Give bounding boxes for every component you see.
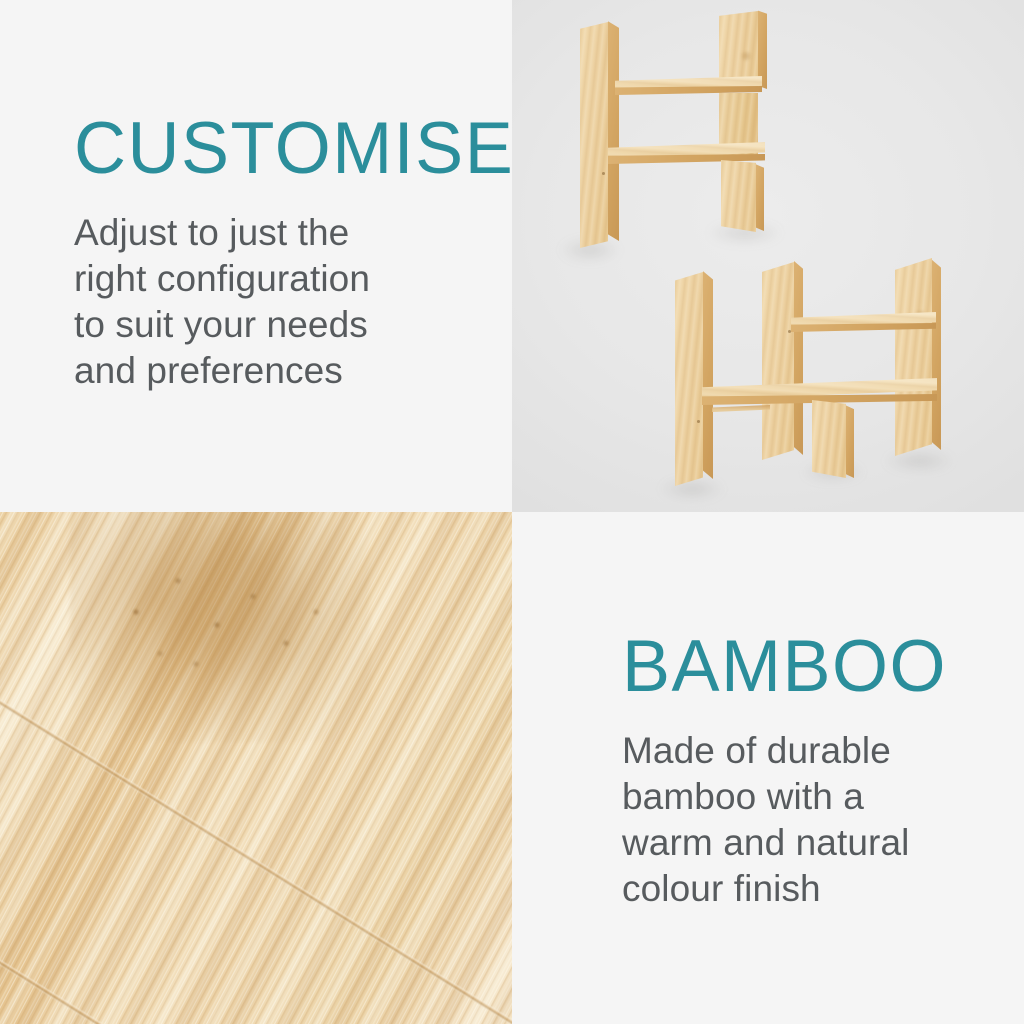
edge-leg-bottom-right-compact	[756, 163, 764, 231]
customise-body-line-3: to suit your needs	[74, 302, 494, 348]
product-infographic: CUSTOMISE Adjust to just the right confi…	[0, 0, 1024, 1024]
panel-right-tall-extended	[895, 258, 932, 456]
texture-node-specks	[70, 512, 370, 742]
shelf-stage	[512, 0, 1024, 512]
bamboo-body-line-1: Made of durable	[622, 728, 1022, 774]
shadow-extended-left	[660, 478, 724, 500]
bamboo-body-line-4: colour finish	[622, 866, 1022, 912]
bamboo-body: Made of durable bamboo with a warm and n…	[622, 728, 1022, 912]
customise-body: Adjust to just the right configuration t…	[74, 210, 494, 394]
screw-left-extended	[697, 420, 700, 423]
bamboo-body-line-2: bamboo with a	[622, 774, 1022, 820]
panel-product-photo	[512, 0, 1024, 512]
panel-bamboo-texture	[0, 512, 512, 1024]
edge-leg-center-bottom-extended	[846, 404, 854, 478]
bamboo-body-line-3: warm and natural	[622, 820, 1022, 866]
shadow-extended-right	[884, 450, 954, 472]
customise-body-line-4: and preferences	[74, 348, 494, 394]
edge-left-tall-compact	[608, 19, 619, 241]
edge-middle-divider-extended	[794, 259, 803, 455]
customise-body-line-1: Adjust to just the	[74, 210, 494, 256]
screw-middle-upper-extended	[788, 330, 791, 333]
panel-left-tall-compact	[580, 22, 608, 248]
shelf-slot-detail	[712, 405, 770, 412]
customise-body-line-2: right configuration	[74, 256, 494, 302]
customise-text-block: CUSTOMISE Adjust to just the right confi…	[74, 112, 494, 394]
leg-bottom-right-compact	[721, 160, 756, 232]
bamboo-texture-photo	[0, 512, 512, 1024]
edge-right-tall-extended	[932, 256, 941, 450]
panel-bamboo-text: BAMBOO Made of durable bamboo with a war…	[512, 512, 1024, 1024]
customise-headline: CUSTOMISE	[74, 112, 494, 185]
panel-middle-divider-extended	[762, 262, 794, 460]
edge-left-tall-extended	[703, 269, 713, 479]
screw-left-compact	[602, 172, 605, 175]
panel-customise: CUSTOMISE Adjust to just the right confi…	[0, 0, 512, 512]
bamboo-headline: BAMBOO	[622, 630, 1022, 703]
panel-left-tall-extended	[675, 272, 703, 486]
bamboo-text-block: BAMBOO Made of durable bamboo with a war…	[622, 630, 1022, 912]
leg-center-bottom-extended	[812, 400, 846, 478]
